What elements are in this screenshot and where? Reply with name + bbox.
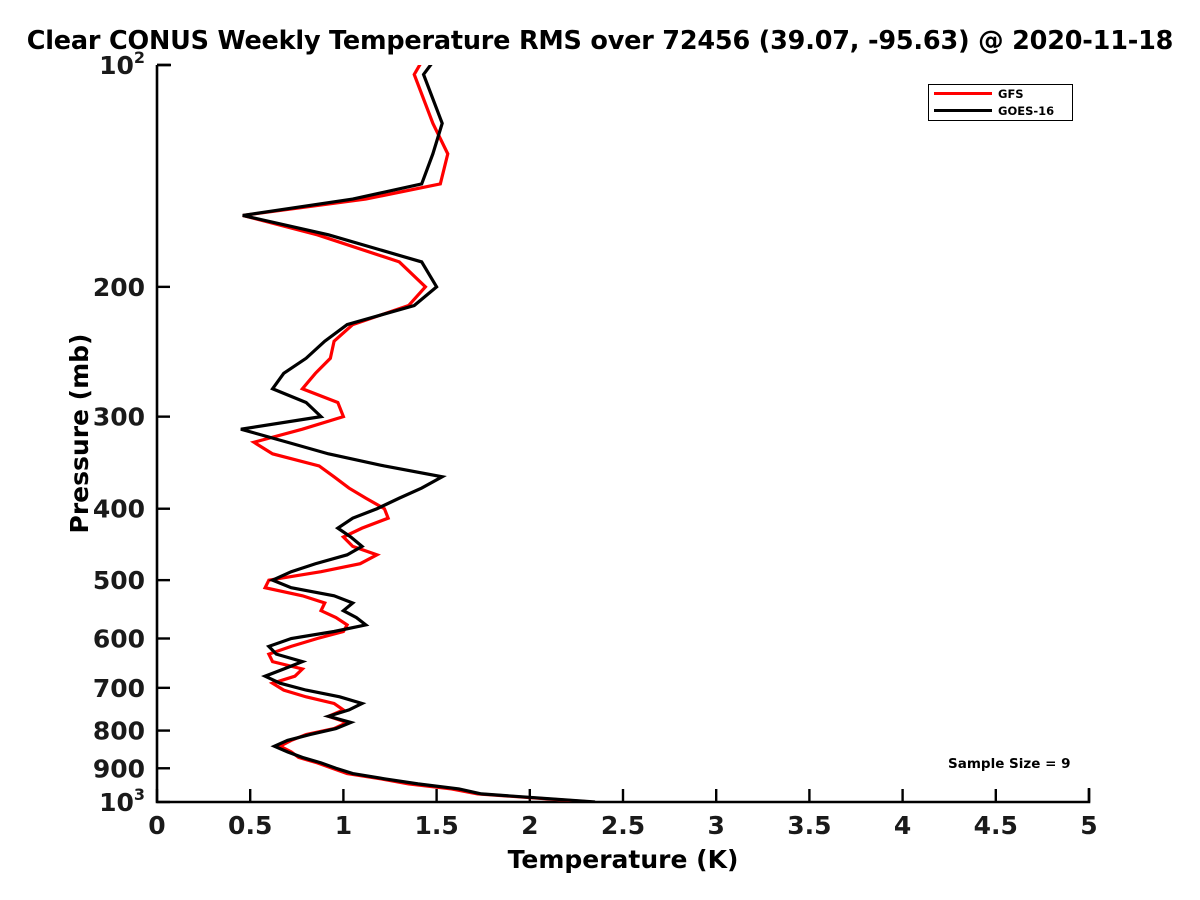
y-axis-title: Pressure (mb) [65,334,94,534]
plot-axes [157,65,1089,802]
legend-swatch-gfs [934,92,992,95]
y-tick-label: 500 [93,566,145,595]
y-tick-label: 400 [93,495,145,524]
sample-size-annotation: Sample Size = 9 [948,756,1071,772]
chart-legend[interactable]: GFS GOES-16 [928,84,1073,121]
x-tick-label: 3.5 [787,811,831,840]
series-line-gfs [243,52,592,802]
y-tick-label: 800 [93,717,145,746]
x-tick-label: 4 [894,811,911,840]
x-tick-label: 0 [148,811,165,840]
figure-canvas: Clear CONUS Weekly Temperature RMS over … [0,0,1200,900]
legend-label-goes16: GOES-16 [998,104,1054,118]
legend-item-goes16[interactable]: GOES-16 [929,102,1072,119]
x-tick-label: 0.5 [228,811,272,840]
y-tick-label: 700 [93,674,145,703]
legend-swatch-goes16 [934,109,992,112]
y-tick-label: 103 [99,785,145,817]
x-tick-label: 1.5 [414,811,458,840]
y-tick-label: 200 [93,273,145,302]
y-tick-label: 102 [99,48,145,80]
axis-titles: Temperature (K)Pressure (mb) [65,334,738,874]
x-tick-label: 3 [707,811,724,840]
y-tick-label: 300 [93,403,145,432]
legend-item-gfs[interactable]: GFS [929,85,1072,102]
axis-ticks: 00.511.522.533.544.551022003004005006007… [93,48,1098,840]
series-line-goes-16 [241,52,595,802]
y-tick-label: 600 [93,624,145,653]
x-tick-label: 2.5 [601,811,645,840]
x-tick-label: 4.5 [974,811,1018,840]
data-series-group [241,52,595,802]
x-tick-label: 2 [521,811,538,840]
y-tick-label: 900 [93,754,145,783]
x-tick-label: 5 [1080,811,1097,840]
legend-label-gfs: GFS [998,87,1024,101]
x-axis-title: Temperature (K) [508,845,739,874]
x-tick-label: 1 [335,811,352,840]
